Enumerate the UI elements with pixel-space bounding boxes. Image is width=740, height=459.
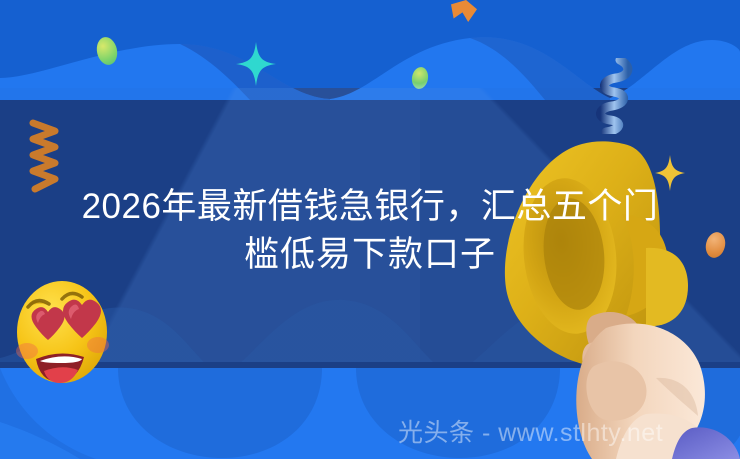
spiral-ribbon-icon [590,58,636,134]
megaphone-illustration [496,128,740,459]
banner-title-line-1: 2026年最新借钱急银行，汇总五个门 [44,183,696,231]
banner-title-line-2: 槛低易下款口子 [44,231,696,279]
site-watermark: 光头条 - www.stlhty.net [398,419,663,447]
promo-banner: 2026年最新借钱急银行，汇总五个门 槛低易下款口子 光头条 - www.stl… [0,0,740,459]
heart-eyes-emoji-icon [14,279,110,385]
banner-title: 2026年最新借钱急银行，汇总五个门 槛低易下款口子 [0,183,740,279]
sparkle-cyan-icon [236,42,276,86]
